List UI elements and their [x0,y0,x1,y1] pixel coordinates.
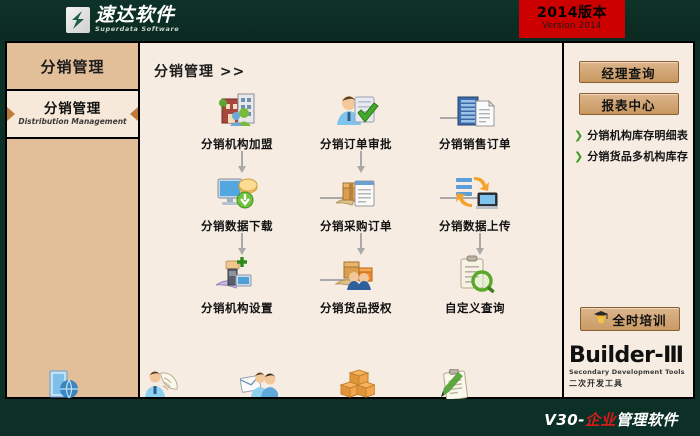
green-arrow-icon: ❯ [574,151,583,162]
module-label: 分销机构设置 [177,300,297,316]
connector-arrow-down [237,151,247,173]
main-panel: 分销管理 >> [140,43,564,397]
boxes-icon [309,369,405,403]
footer-bar: V30-企业管理软件 [0,399,700,436]
box-people-icon [296,253,416,297]
version-badge-cn: 2014版本 [537,6,607,21]
module-label: 分销数据上传 [415,218,535,234]
connector-arrow-down [356,151,366,173]
sidebar-item-label-en: Distribution Management [18,117,126,127]
builder-title: Builder-Ⅲ [569,344,700,368]
envelope-people-icon [211,369,307,403]
report-link-label: 分销货品多机构库存 [587,148,688,164]
product-tagline: V30-企业管理软件 [544,409,678,430]
module-tile-franchise[interactable]: 分销机构加盟 [177,89,297,152]
module-tile-data-upload[interactable]: 分销数据上传 [415,171,535,234]
tagline-highlight: 企业 [585,411,616,429]
top-bar: 速达软件 Superdata Software 2014版本 Version 2… [0,0,700,40]
manager-query-label: 经理查询 [601,63,655,82]
s-mark-icon [66,7,90,33]
sidebar-item-distribution-management[interactable]: 分销管理 Distribution Management [7,91,138,139]
report-link-inventory-detail[interactable]: ❯ 分销机构库存明细表 [564,127,693,143]
sidebar-header: 分销管理 [7,43,138,91]
connector-arrow-down [237,233,247,255]
module-label: 分销货品授权 [296,300,416,316]
module-tile-purchase-order[interactable]: 分销采购订单 [296,171,416,234]
left-arrow-marker-icon [7,107,15,121]
right-arrow-marker-icon [130,107,138,121]
logo-subtitle: Superdata Software [95,25,179,34]
module-tile-sales-order[interactable]: 分销销售订单 [415,89,535,152]
report-center-button[interactable]: 报表中心 [579,93,679,115]
builder-logo: Builder-Ⅲ Secondary Development Tools 二次… [559,344,700,389]
module-tile-goods-authorization[interactable]: 分销货品授权 [296,253,416,316]
sidebar: 分销管理 分销管理 Distribution Management [7,43,140,397]
module-tile-order-approval[interactable]: 分销订单审批 [296,89,416,152]
list-upload-icon [415,171,535,215]
version-badge: 2014版本 Version 2014 [519,0,625,38]
server-document-icon [415,89,535,133]
sidebar-item-label-cn: 分销管理 [44,101,101,117]
door-globe-icon [15,369,111,403]
graduation-cap-icon [593,309,609,329]
training-label: 全时培训 [612,310,666,329]
box-document-icon [296,171,416,215]
module-tile-data-download[interactable]: 分销数据下载 [177,171,297,234]
machine-settings-icon [177,253,297,297]
report-link-multi-org-inventory[interactable]: ❯ 分销货品多机构库存 [564,148,693,164]
monitor-download-icon [177,171,297,215]
person-approve-icon [296,89,416,133]
module-label: 分销机构加盟 [177,136,297,152]
application-window: 速达软件 Superdata Software 2014版本 Version 2… [0,0,700,436]
module-tile-org-setup[interactable]: 分销机构设置 [177,253,297,316]
connector-arrow-down [356,233,366,255]
module-label: 自定义查询 [415,300,535,316]
sidebar-header-label: 分销管理 [40,56,104,77]
clipboard-pen-icon [407,369,503,403]
builder-subtitle-en: Secondary Development Tools [569,368,700,377]
tagline-prefix: V30- [544,411,585,429]
tagline-suffix: 管理软件 [616,411,678,429]
building-people-icon [177,89,297,133]
logo-title: 速达软件 [95,6,179,25]
module-label: 分销采购订单 [296,218,416,234]
report-center-label: 报表中心 [601,95,655,114]
report-link-label: 分销机构库存明细表 [587,127,688,143]
green-arrow-icon: ❯ [574,130,583,141]
breadcrumb: 分销管理 >> [154,61,245,81]
module-label: 分销数据下载 [177,218,297,234]
clipboard-search-icon [415,253,535,297]
full-time-training-button[interactable]: 全时培训 [580,307,680,331]
version-badge-en: Version 2014 [542,21,601,32]
module-label: 分销订单审批 [296,136,416,152]
builder-subtitle-cn: 二次开发工具 [569,378,700,389]
person-document-icon [113,369,209,403]
manager-query-button[interactable]: 经理查询 [579,61,679,83]
module-icon-grid: 分销机构加盟 [140,89,562,351]
module-label: 分销销售订单 [415,136,535,152]
module-tile-custom-query[interactable]: 自定义查询 [415,253,535,316]
connector-arrow-down [475,233,485,255]
brand-logo: 速达软件 Superdata Software [66,6,179,34]
